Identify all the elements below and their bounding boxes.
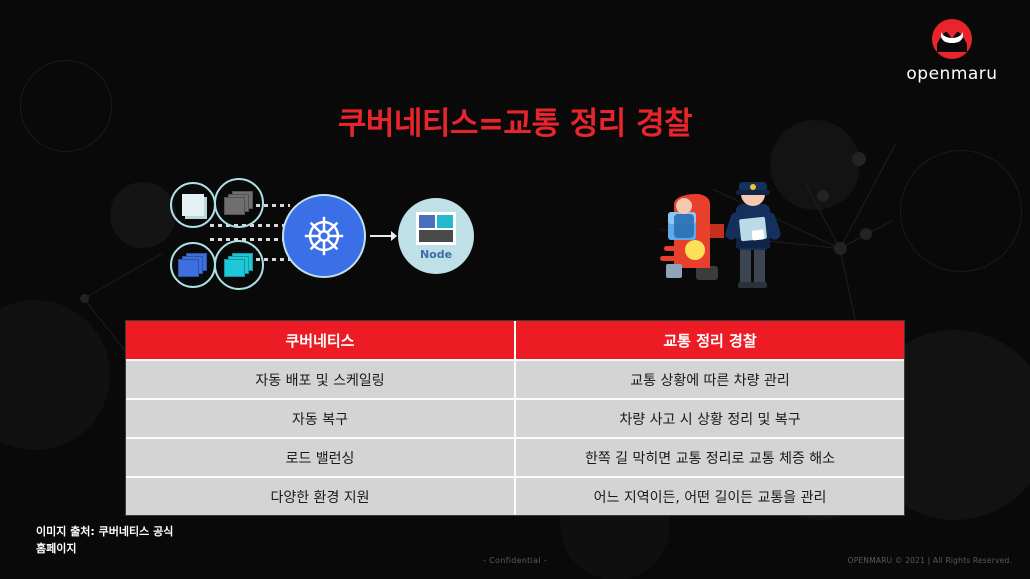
bg-link-2 xyxy=(804,182,840,249)
police-traffic-illustration xyxy=(648,168,788,300)
table-cell-k8s-3: 로드 밸런싱 xyxy=(126,438,515,477)
node-icon-circle: Node xyxy=(398,198,474,274)
comparison-table: 쿠버네티스 교통 정리 경찰 자동 배포 및 스케일링 교통 상황에 따른 차량… xyxy=(126,321,904,515)
footer-copyright: OPENMARU © 2021 | All Rights Reserved. xyxy=(848,556,1012,565)
source-caption-line1: 이미지 출처: 쿠버네티스 공식 xyxy=(36,524,296,541)
bg-circle-2 xyxy=(0,300,110,450)
bg-link-1 xyxy=(840,142,897,248)
source-caption-line2: 홈페이지 xyxy=(36,541,296,558)
bg-link-8 xyxy=(84,253,162,299)
bg-node-2 xyxy=(817,190,829,202)
stack-glyph xyxy=(178,253,208,277)
table-cell-police-2: 차량 사고 시 상황 정리 및 복구 xyxy=(515,399,904,438)
bg-ring-1 xyxy=(900,150,1022,272)
table-row: 자동 복구 차량 사고 시 상황 정리 및 복구 xyxy=(126,399,904,438)
table-header-row: 쿠버네티스 교통 정리 경찰 xyxy=(126,321,904,360)
cyan-stack-icon xyxy=(214,240,264,290)
table-cell-k8s-1: 자동 배포 및 스케일링 xyxy=(126,360,515,399)
bg-node-3 xyxy=(860,228,872,240)
diagram-connector-3 xyxy=(210,238,290,241)
node-icon-block-blue xyxy=(419,215,435,228)
kubernetes-helm-icon xyxy=(282,194,366,278)
police-officer-graphic xyxy=(724,182,782,288)
node-icon-top-row xyxy=(419,215,453,228)
table-row: 자동 배포 및 스케일링 교통 상황에 따른 차량 관리 xyxy=(126,360,904,399)
blue-stack-icon xyxy=(170,242,216,288)
stack-glyph xyxy=(224,253,254,277)
table-cell-police-4: 어느 지역이든, 어떤 길이든 교통을 관리 xyxy=(515,477,904,515)
table-header-police: 교통 정리 경찰 xyxy=(515,321,904,360)
kubernetes-diagram: Node xyxy=(156,176,486,298)
table-row: 다양한 환경 지원 어느 지역이든, 어떤 길이든 교통을 관리 xyxy=(126,477,904,515)
node-icon-block-cyan xyxy=(437,215,453,228)
openmaru-logo-text: openmaru xyxy=(896,64,1008,84)
node-icon xyxy=(416,212,456,245)
table-cell-k8s-4: 다양한 환경 지원 xyxy=(126,477,515,515)
bg-node-4 xyxy=(80,294,89,303)
white-square-icon xyxy=(170,182,216,228)
openmaru-mark-icon xyxy=(931,18,973,60)
source-caption: 이미지 출처: 쿠버네티스 공식 홈페이지 xyxy=(36,524,296,557)
square-glyph xyxy=(182,194,204,216)
table-row: 로드 밸런싱 한쪽 길 막히면 교통 정리로 교통 체증 해소 xyxy=(126,438,904,477)
gray-stack-icon xyxy=(214,178,264,228)
bg-link-3 xyxy=(840,220,893,249)
bg-node-1 xyxy=(852,152,866,166)
node-icon-bottom-bar xyxy=(419,230,453,242)
table-cell-police-1: 교통 상황에 따른 차량 관리 xyxy=(515,360,904,399)
slide-root: openmaru 쿠버네티스=교통 정리 경찰 xyxy=(0,0,1030,579)
page-title: 쿠버네티스=교통 정리 경찰 xyxy=(0,98,1030,143)
openmaru-logo: openmaru xyxy=(896,18,1008,84)
table-cell-police-3: 한쪽 길 막히면 교통 정리로 교통 체증 해소 xyxy=(515,438,904,477)
diagram-arrow-icon xyxy=(370,228,398,244)
bg-node-hub xyxy=(834,242,847,255)
table-header-kubernetes: 쿠버네티스 xyxy=(126,321,515,360)
table-cell-k8s-2: 자동 복구 xyxy=(126,399,515,438)
node-label: Node xyxy=(420,248,452,261)
car-graphic xyxy=(660,194,724,280)
stack-glyph xyxy=(224,191,254,215)
